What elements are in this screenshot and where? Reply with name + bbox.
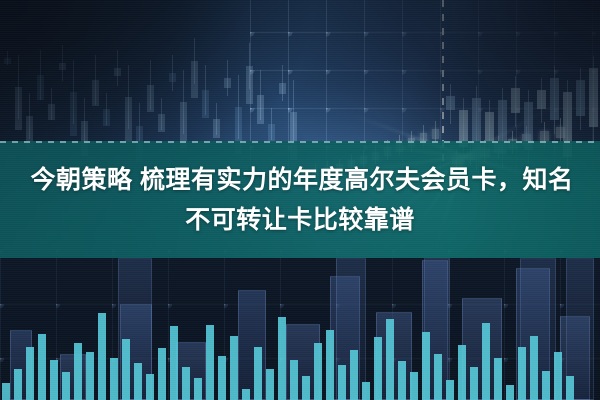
banner-image: 今朝策略 梳理有实力的年度高尔夫会员卡，知名 不可转让卡比较靠谱 xyxy=(0,0,600,400)
scanline-texture xyxy=(0,0,600,400)
